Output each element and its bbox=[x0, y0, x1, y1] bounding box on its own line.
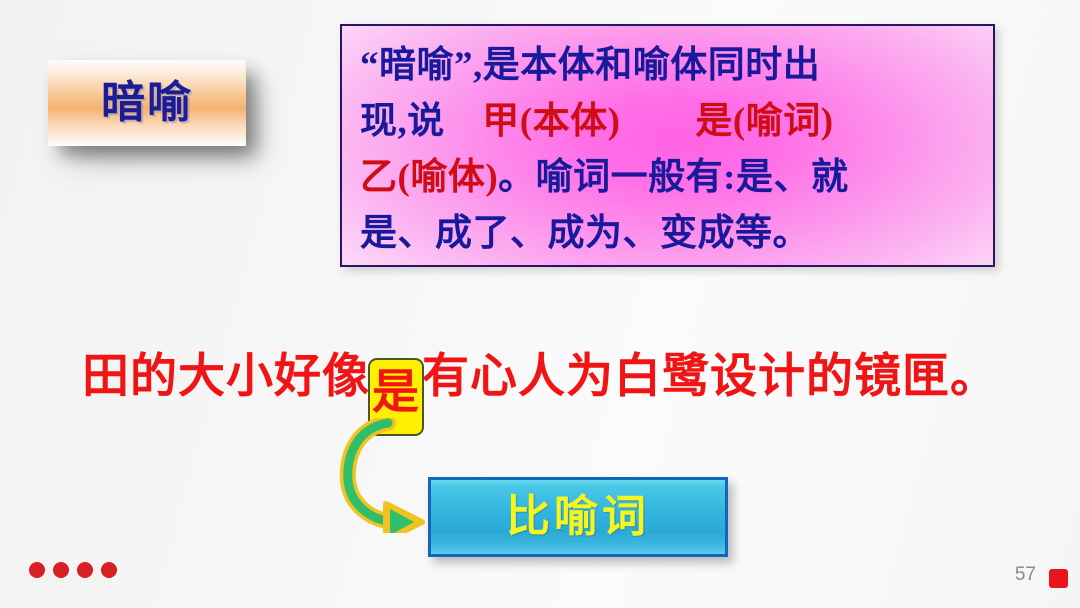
sentence-after-highlight: 有心人为白鹭设计的镜匣。 bbox=[422, 349, 998, 404]
definition-line: 现,说 甲(本体) 是(喻词) bbox=[360, 94, 979, 150]
definition-text-run: 。喻词一般有:是、就 bbox=[498, 157, 848, 198]
definition-panel: “暗喻”,是本体和喻体同时出 现,说 甲(本体) 是(喻词) 乙(喻体)。喻词一… bbox=[340, 24, 995, 267]
title-card: 暗喻 bbox=[48, 60, 246, 146]
progress-dots bbox=[29, 562, 117, 578]
definition-text-run: 现,说 bbox=[360, 101, 482, 142]
page-marker-square bbox=[1049, 569, 1068, 588]
definition-text-run: “暗喻”,是本体和喻体同时出 bbox=[360, 45, 820, 86]
page-number: 57 bbox=[1015, 564, 1036, 586]
definition-emphasis-run: 乙(喻体) bbox=[360, 157, 498, 198]
definition-line: “暗喻”,是本体和喻体同时出 bbox=[360, 38, 979, 94]
title-label: 暗喻 bbox=[101, 81, 193, 125]
example-sentence: 田的大小好像是有心人为白鹭设计的镜匣。 bbox=[0, 348, 1080, 436]
progress-dot bbox=[101, 562, 117, 578]
highlighted-word-label: 是 bbox=[372, 365, 420, 420]
progress-dot bbox=[77, 562, 93, 578]
definition-line: 乙(喻体)。喻词一般有:是、就 bbox=[360, 150, 979, 206]
callout-box: 比喻词 bbox=[428, 477, 728, 557]
callout-label: 比喻词 bbox=[506, 495, 650, 539]
definition-emphasis-run: 是(喻词) bbox=[695, 101, 833, 142]
definition-text-run bbox=[620, 101, 695, 142]
definition-line: 是、成了、成为、变成等。 bbox=[360, 206, 979, 262]
progress-dot bbox=[29, 562, 45, 578]
definition-text-run: 是、成了、成为、变成等。 bbox=[360, 213, 810, 254]
progress-dot bbox=[53, 562, 69, 578]
slide-canvas: 暗喻 “暗喻”,是本体和喻体同时出 现,说 甲(本体) 是(喻词) 乙(喻体)。… bbox=[0, 0, 1080, 608]
definition-emphasis-run: 甲(本体) bbox=[482, 101, 620, 142]
sentence-before-highlight: 田的大小好像 bbox=[82, 349, 370, 404]
